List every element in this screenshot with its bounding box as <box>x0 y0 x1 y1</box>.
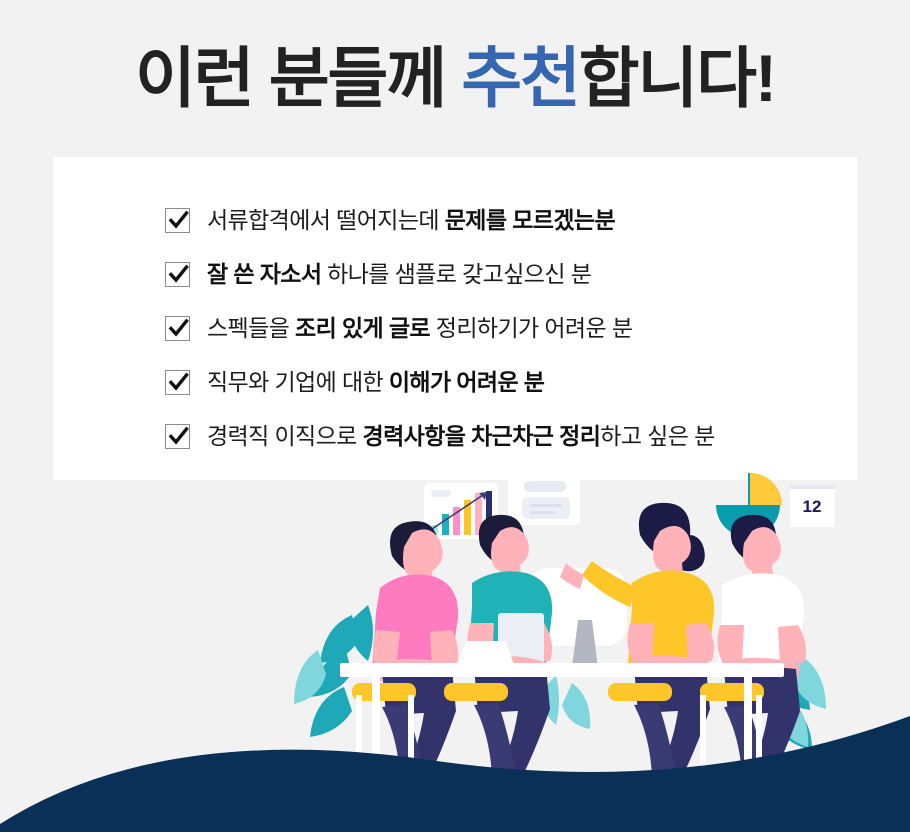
list-item: 직무와 기업에 대한 이해가 어려운 분 <box>165 355 845 409</box>
list-item-text-normal-1: 경력직 이직으로 <box>207 423 363 449</box>
list-item-text: 잘 쓴 자소서 하나를 샘플로 갖고싶으신 분 <box>207 259 591 289</box>
promo-banner: 이런 분들께 추천합니다! 서류합격에서 떨어지는데 문제를 모르겠는분 잘 쓴… <box>0 0 910 832</box>
check-mark-icon <box>165 262 190 287</box>
list-item-text-bold: 잘 쓴 자소서 <box>207 261 321 287</box>
check-mark-icon <box>165 424 190 449</box>
check-mark-icon <box>165 370 190 395</box>
list-item-text-normal-1: 직무와 기업에 대한 <box>207 369 389 395</box>
page-title-part2: 합니다! <box>579 41 775 115</box>
page-title: 이런 분들께 추천합니다! <box>0 36 910 120</box>
list-item-text: 직무와 기업에 대한 이해가 어려운 분 <box>207 367 544 397</box>
list-item: 서류합격에서 떨어지는데 문제를 모르겠는분 <box>165 193 845 247</box>
check-mark-icon <box>165 208 190 233</box>
page-title-accent: 추천 <box>461 41 578 115</box>
list-item-text-bold: 문제를 모르겠는분 <box>445 207 615 233</box>
checklist: 서류합격에서 떨어지는데 문제를 모르겠는분 잘 쓴 자소서 하나를 샘플로 갖… <box>165 193 845 463</box>
list-item-text: 경력직 이직으로 경력사항을 차근차근 정리하고 싶은 분 <box>207 421 715 451</box>
list-item-text-bold: 경력사항을 차근차근 정리 <box>363 423 601 449</box>
list-item: 스펙들을 조리 있게 글로 정리하기가 어려운 분 <box>165 301 845 355</box>
check-mark-icon <box>165 316 190 341</box>
document-card <box>508 473 580 525</box>
list-item-text: 스펙들을 조리 있게 글로 정리하기가 어려운 분 <box>207 313 632 343</box>
page-title-part1: 이런 분들께 <box>135 41 461 115</box>
laptop-graphic <box>458 641 514 665</box>
list-item-text-normal-1: 서류합격에서 떨어지는데 <box>207 207 445 233</box>
list-item-text-normal-1: 스펙들을 <box>207 315 295 341</box>
calendar-card: 12 <box>790 485 835 527</box>
person-pink-woman <box>372 521 458 797</box>
list-item-text-normal-2: 정리하기가 어려운 분 <box>430 315 632 341</box>
list-item: 잘 쓴 자소서 하나를 샘플로 갖고싶으신 분 <box>165 247 845 301</box>
list-item-text-normal-2: 하나를 샘플로 갖고싶으신 분 <box>321 261 591 287</box>
list-item-text-bold: 이해가 어려운 분 <box>389 369 545 395</box>
list-item-text: 서류합격에서 떨어지는데 문제를 모르겠는분 <box>207 205 615 235</box>
list-item-text-bold: 조리 있게 글로 <box>295 315 430 341</box>
team-meeting-illustration: 12 <box>0 455 910 832</box>
checklist-card: 서류합격에서 떨어지는데 문제를 모르겠는분 잘 쓴 자소서 하나를 샘플로 갖… <box>53 157 857 480</box>
calendar-day-label: 12 <box>803 497 822 516</box>
list-item-text-normal-2: 하고 싶은 분 <box>600 423 714 449</box>
